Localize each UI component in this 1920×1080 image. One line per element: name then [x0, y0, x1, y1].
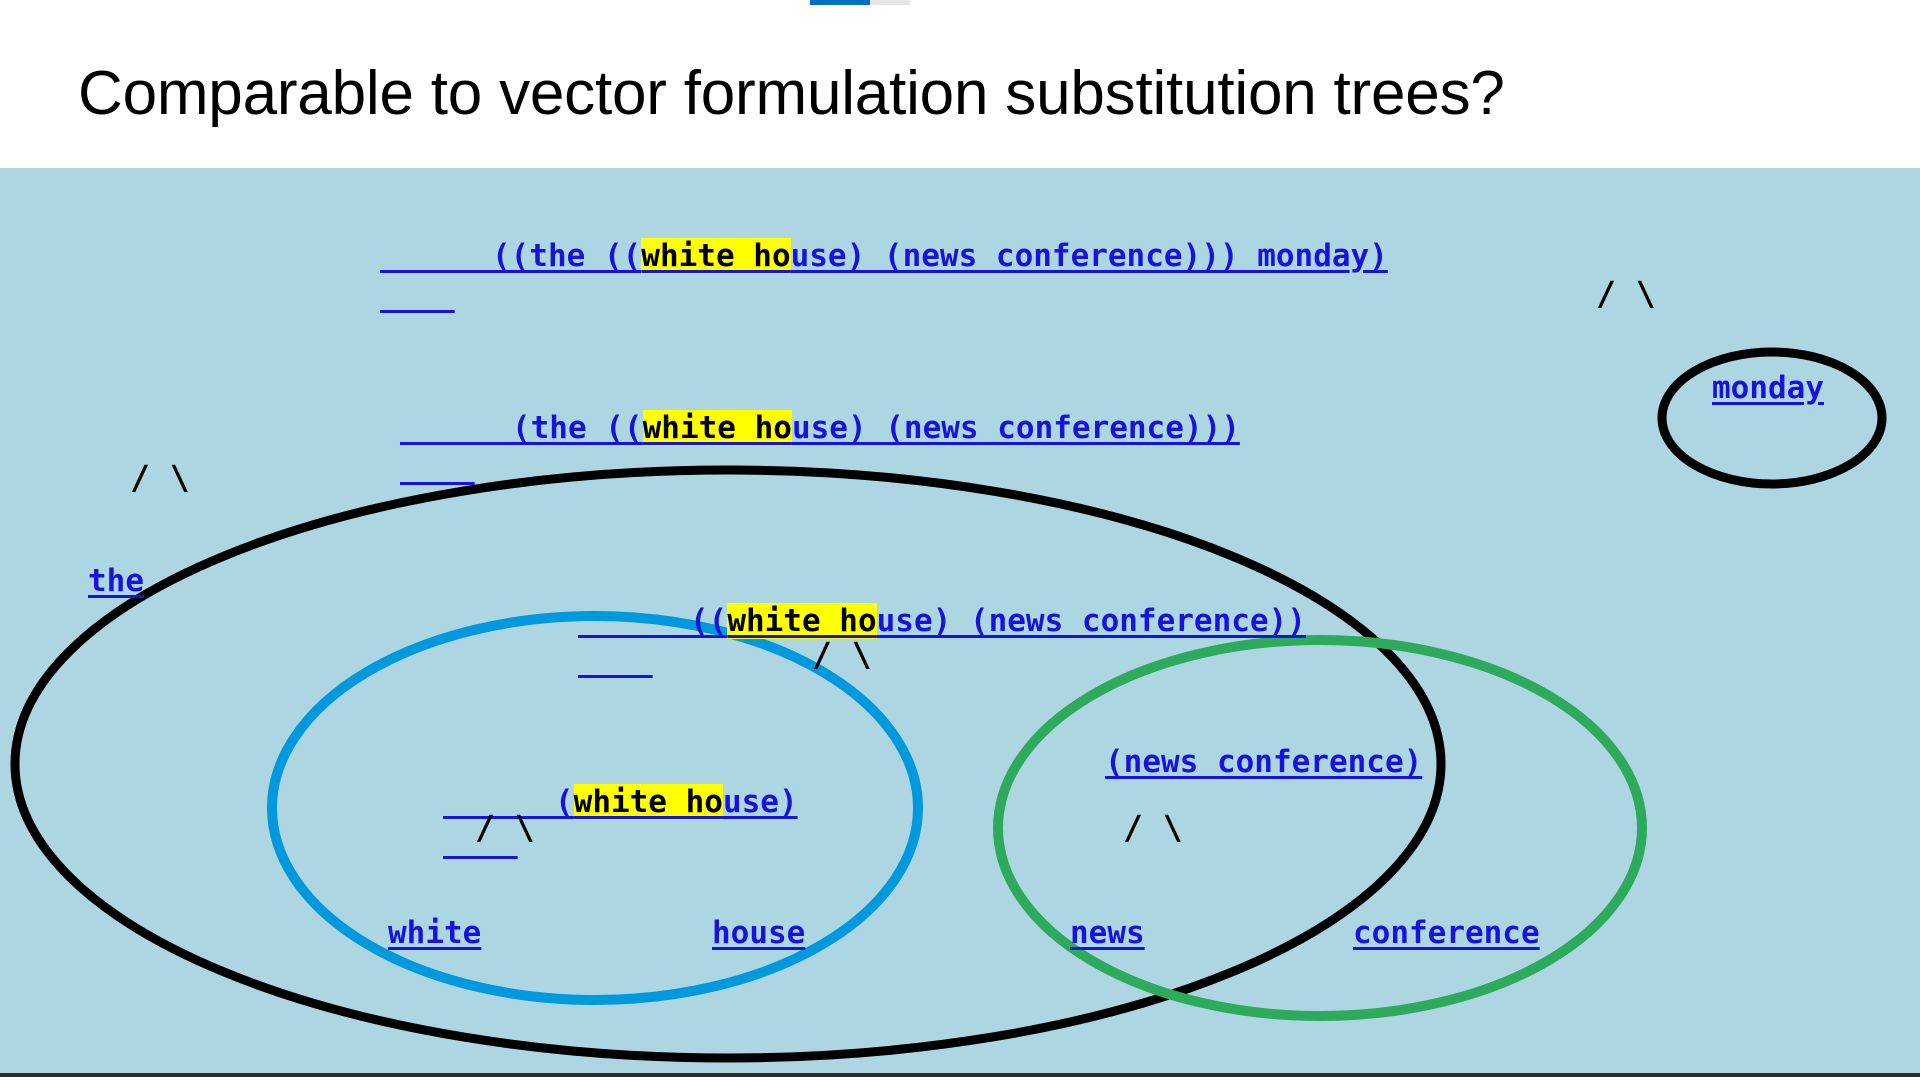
node-l3r-prefix: (( — [690, 603, 727, 639]
node-l3r-highlight: white ho — [727, 603, 876, 639]
node-monday[interactable]: monday — [1712, 368, 1824, 408]
branch-marker-white-house: / \ — [475, 808, 535, 848]
branch-marker-root: / \ — [1596, 274, 1656, 314]
node-the-phrase[interactable]: (the ((white house) (news conference))) — [400, 368, 1240, 488]
node-news-conference[interactable]: (news conference) — [1105, 742, 1422, 782]
node-white-house-news-conference[interactable]: ((white house) (news conference)) — [578, 561, 1306, 681]
node-wh-highlight: white ho — [574, 784, 723, 820]
node-wh-prefix: ( — [555, 784, 574, 820]
node-the[interactable]: the — [88, 561, 144, 601]
node-root[interactable]: ((the ((white house) (news conference)))… — [380, 196, 1388, 316]
node-wh-suffix: use) — [723, 784, 798, 820]
branch-marker-level3: / \ — [812, 635, 872, 675]
page-title: Comparable to vector formulation substit… — [78, 48, 1838, 140]
node-the-phrase-prefix: (the (( — [512, 410, 643, 446]
leaf-white[interactable]: white — [388, 913, 481, 953]
leaf-conference[interactable]: conference — [1353, 913, 1540, 953]
branch-marker-level2: / \ — [130, 458, 190, 498]
progress-bar-fill — [810, 0, 870, 5]
presentation-slide: Comparable to vector formulation substit… — [0, 0, 1920, 1080]
diagram-panel: ((the ((white house) (news conference)))… — [0, 168, 1920, 1077]
leaf-house[interactable]: house — [712, 913, 805, 953]
progress-bar-track[interactable] — [810, 0, 910, 5]
node-root-highlight: white ho — [641, 238, 790, 274]
node-l3r-suffix: use) (news conference)) — [877, 603, 1306, 639]
leaf-news[interactable]: news — [1070, 913, 1145, 953]
node-root-suffix: use) (news conference))) monday) — [791, 238, 1388, 274]
news-conference-ellipse — [998, 640, 1642, 1016]
node-the-phrase-highlight: white ho — [643, 410, 792, 446]
node-root-prefix: ((the (( — [492, 238, 641, 274]
node-the-phrase-suffix: use) (news conference))) — [792, 410, 1240, 446]
branch-marker-news-conference: / \ — [1123, 808, 1183, 848]
